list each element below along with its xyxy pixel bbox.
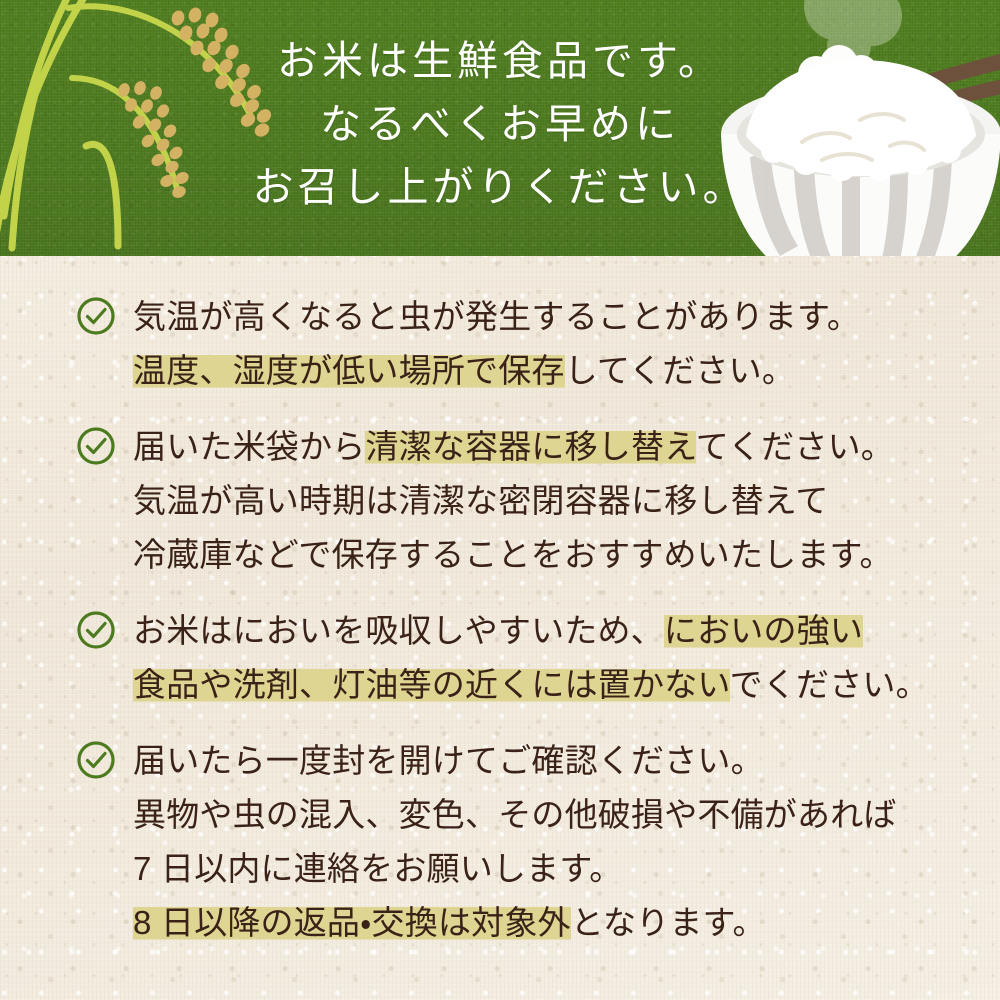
notice-line: 8 日以降の返品・交換は対象外となります。 xyxy=(133,896,970,950)
notice-text: となります。 xyxy=(571,904,766,941)
notice-line: お米はにおいを吸収しやすいため、においの強い xyxy=(133,604,970,658)
notice-line: 異物や虫の混入、変色、その他破損や不備があれば xyxy=(133,788,970,842)
notice-text: てください。 xyxy=(696,428,894,465)
notice-item: 届いたら一度封を開けてご確認ください。異物や虫の混入、変色、その他破損や不備があ… xyxy=(0,734,1000,950)
notice-line: 冷蔵庫などで保存することをおすすめいたします。 xyxy=(133,528,970,582)
check-circle-icon xyxy=(76,296,116,336)
notice-text: してください。 xyxy=(565,352,795,389)
highlighted-text: 温度、湿度が低い場所で保存 xyxy=(133,352,565,389)
notice-text: 7 日以内に連絡をお願いします。 xyxy=(133,850,622,887)
notice-text: でください。 xyxy=(730,666,929,703)
notice-text: 気温が高くなると虫が発生することがあります。 xyxy=(133,298,860,335)
notice-line: 届いた米袋から清潔な容器に移し替えてください。 xyxy=(133,420,970,474)
notice-text: 届いたら一度封を開けてご確認ください。 xyxy=(133,742,764,779)
notice-item: お米はにおいを吸収しやすいため、においの強い食品や洗剤、灯油等の近くには置かない… xyxy=(0,604,1000,712)
notice-line: 食品や洗剤、灯油等の近くには置かないでください。 xyxy=(133,658,970,712)
notice-text: 届いた米袋から xyxy=(133,428,365,465)
check-circle-icon xyxy=(76,426,116,466)
notice-text: 異物や虫の混入、変色、その他破損や不備があれば xyxy=(133,796,897,833)
notice-text: 冷蔵庫などで保存することをおすすめいたします。 xyxy=(133,536,893,573)
notice-list: 気温が高くなると虫が発生することがあります。温度、湿度が低い場所で保存してくださ… xyxy=(0,256,1000,972)
rice-plant-icon xyxy=(0,0,320,256)
notice-line: 温度、湿度が低い場所で保存してください。 xyxy=(133,344,970,398)
check-circle-icon xyxy=(76,740,116,780)
bowl-icon xyxy=(721,60,1000,256)
notice-item: 届いた米袋から清潔な容器に移し替えてください。気温が高い時期は清潔な密閉容器に移… xyxy=(0,420,1000,582)
notice-text: 気温が高い時期は清潔な密閉容器に移し替えて xyxy=(133,482,829,519)
infographic-page: お米は生鮮食品です。 なるべくお早めに お召し上がりください。 xyxy=(0,0,1000,1000)
highlighted-text: 食品や洗剤、灯油等の近くには置かない xyxy=(133,666,730,703)
notice-line: 気温が高くなると虫が発生することがあります。 xyxy=(133,290,970,344)
highlighted-text: 清潔な容器に移し替え xyxy=(365,428,695,465)
highlighted-text: においの強い xyxy=(664,612,863,649)
notice-line: 届いたら一度封を開けてご確認ください。 xyxy=(133,734,970,788)
notice-item: 気温が高くなると虫が発生することがあります。温度、湿度が低い場所で保存してくださ… xyxy=(0,290,1000,398)
rice-bowl-icon xyxy=(706,0,1000,256)
header-banner: お米は生鮮食品です。 なるべくお早めに お召し上がりください。 xyxy=(0,0,1000,256)
check-circle-icon xyxy=(76,610,116,650)
notice-line: 7 日以内に連絡をお願いします。 xyxy=(133,842,970,896)
notice-line: 気温が高い時期は清潔な密閉容器に移し替えて xyxy=(133,474,970,528)
notice-text: お米はにおいを吸収しやすいため、 xyxy=(133,612,664,649)
highlighted-text: 8 日以降の返品・交換は対象外 xyxy=(133,904,571,941)
